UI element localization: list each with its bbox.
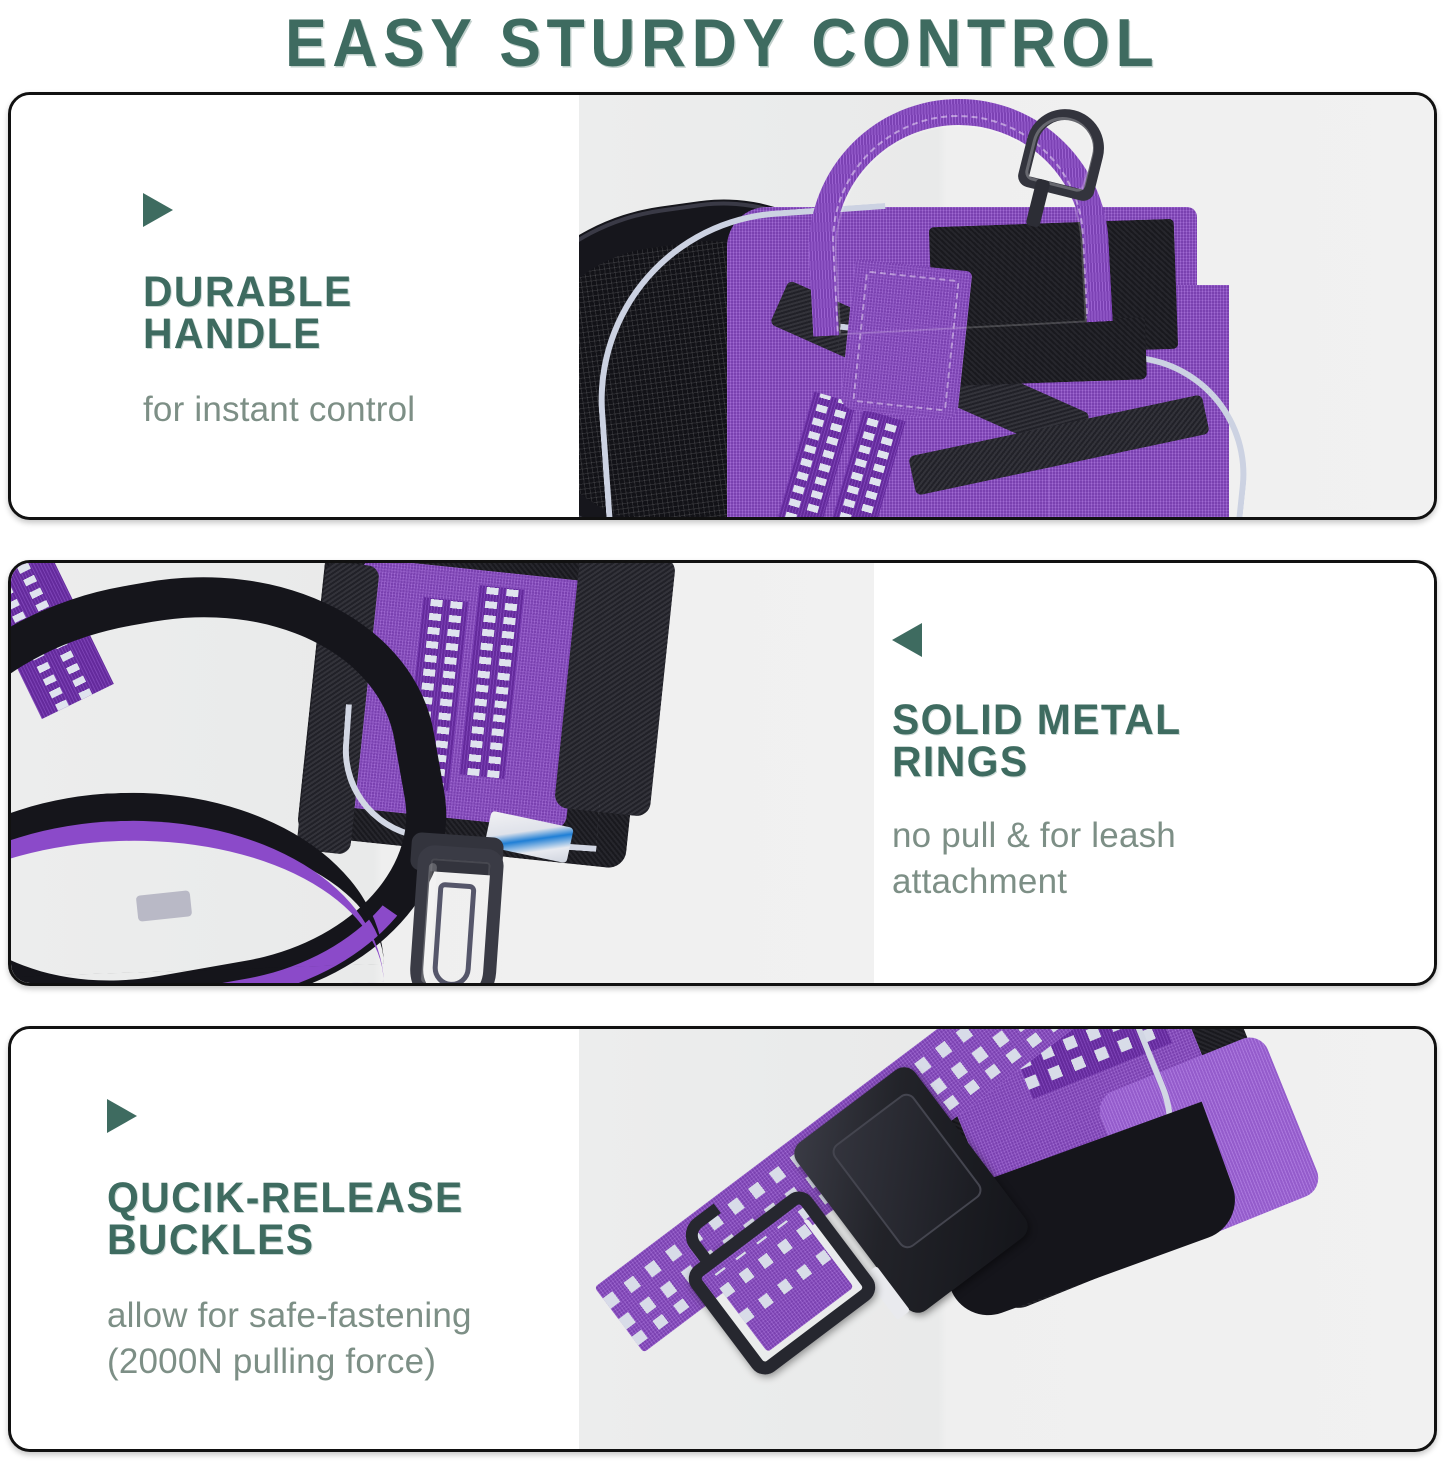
- panel-1-text-area: DURABLE HANDLE for instant control: [11, 95, 579, 517]
- triangle-right-icon: [143, 193, 173, 227]
- panel-1-subtitle: for instant control: [143, 387, 415, 433]
- panel-3-text-area: QUCIK-RELEASE BUCKLES allow for safe-fas…: [11, 1029, 579, 1449]
- metal-ring-aperture: [431, 882, 476, 983]
- panel-1-text-block: DURABLE HANDLE for instant control: [143, 193, 415, 433]
- panel-3-text-block: QUCIK-RELEASE BUCKLES allow for safe-fas…: [107, 1099, 482, 1384]
- panel-3-kicker: QUCIK-RELEASE BUCKLES: [107, 1177, 464, 1261]
- feature-panel-solid-metal-rings: SOLID METAL RINGS no pull & for leash at…: [8, 560, 1437, 986]
- panel-1-kicker: DURABLE HANDLE: [143, 271, 402, 355]
- panel-2-photo: [11, 563, 874, 983]
- panel-2-subtitle: no pull & for leash attachment: [892, 813, 1197, 904]
- triangle-right-icon: [107, 1099, 137, 1133]
- page-title: EASY STURDY CONTROL: [285, 9, 1159, 77]
- triangle-left-icon: [892, 623, 922, 657]
- panel-2-kicker: SOLID METAL RINGS: [892, 699, 1181, 783]
- panel-2-text-block: SOLID METAL RINGS no pull & for leash at…: [892, 623, 1197, 904]
- panel-2-text-area: SOLID METAL RINGS no pull & for leash at…: [874, 563, 1434, 983]
- panel-3-photo: [579, 1029, 1434, 1449]
- panel-3-subtitle: allow for safe-fastening (2000N pulling …: [107, 1293, 482, 1384]
- panel-1-photo: [579, 95, 1434, 517]
- headline-bar: EASY STURDY CONTROL: [0, 0, 1445, 86]
- feature-panel-quick-release-buckles: QUCIK-RELEASE BUCKLES allow for safe-fas…: [8, 1026, 1437, 1452]
- feature-panel-durable-handle: DURABLE HANDLE for instant control: [8, 92, 1437, 520]
